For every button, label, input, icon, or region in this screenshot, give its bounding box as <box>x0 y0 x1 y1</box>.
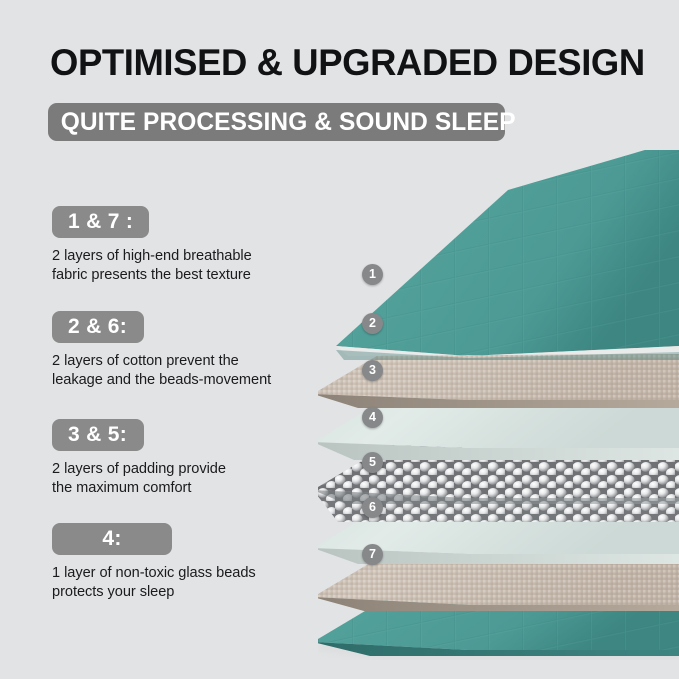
info-line: 2 layers of high-end breathable <box>52 247 314 266</box>
info-line: protects your sleep <box>52 583 314 602</box>
layer-badge-6: 6 <box>362 497 383 518</box>
layer-badge-7: 7 <box>362 544 383 565</box>
info-block-4: 4: 1 layer of non-toxic glass beads prot… <box>52 523 314 601</box>
subtitle-banner: QUITE PROCESSING & SOUND SLEEP <box>48 103 505 141</box>
layer-badge-2: 2 <box>362 313 383 334</box>
infographic-page: OPTIMISED & UPGRADED DESIGN QUITE PROCES… <box>0 0 679 679</box>
layer-stack-svg <box>318 150 679 660</box>
exploded-layer-stack: 1 2 3 4 5 6 7 <box>318 150 679 660</box>
info-pill-3: 3 & 5: <box>52 419 144 451</box>
info-pill-label-4: 4: <box>102 527 121 551</box>
info-pill-label-3: 3 & 5: <box>68 423 127 447</box>
info-pill-2: 2 & 6: <box>52 311 144 343</box>
info-block-2: 2 & 6: 2 layers of cotton prevent the le… <box>52 311 314 389</box>
info-body-2: 2 layers of cotton prevent the leakage a… <box>52 352 314 389</box>
info-pill-label-1: 1 & 7 : <box>68 210 133 234</box>
info-line: the maximum comfort <box>52 479 314 498</box>
info-block-1: 1 & 7 : 2 layers of high-end breathable … <box>52 206 314 284</box>
info-line: fabric presents the best texture <box>52 266 314 285</box>
info-body-3: 2 layers of padding provide the maximum … <box>52 460 314 497</box>
info-block-3: 3 & 5: 2 layers of padding provide the m… <box>52 419 314 497</box>
info-body-1: 2 layers of high-end breathable fabric p… <box>52 247 314 284</box>
layer-1-teal-fabric <box>336 150 679 360</box>
info-body-4: 1 layer of non-toxic glass beads protect… <box>52 564 314 601</box>
layer-badge-5: 5 <box>362 452 383 473</box>
layer-badge-3: 3 <box>362 360 383 381</box>
subtitle-text: QUITE PROCESSING & SOUND SLEEP <box>48 108 516 137</box>
info-line: 2 layers of cotton prevent the <box>52 352 314 371</box>
info-line: 2 layers of padding provide <box>52 460 314 479</box>
layer-badge-4: 4 <box>362 407 383 428</box>
info-pill-1: 1 & 7 : <box>52 206 149 238</box>
info-pill-4: 4: <box>52 523 172 555</box>
page-title: OPTIMISED & UPGRADED DESIGN <box>50 42 641 84</box>
info-line: leakage and the beads-movement <box>52 371 314 390</box>
layer-badge-1: 1 <box>362 264 383 285</box>
info-line: 1 layer of non-toxic glass beads <box>52 564 314 583</box>
info-pill-label-2: 2 & 6: <box>68 315 127 339</box>
